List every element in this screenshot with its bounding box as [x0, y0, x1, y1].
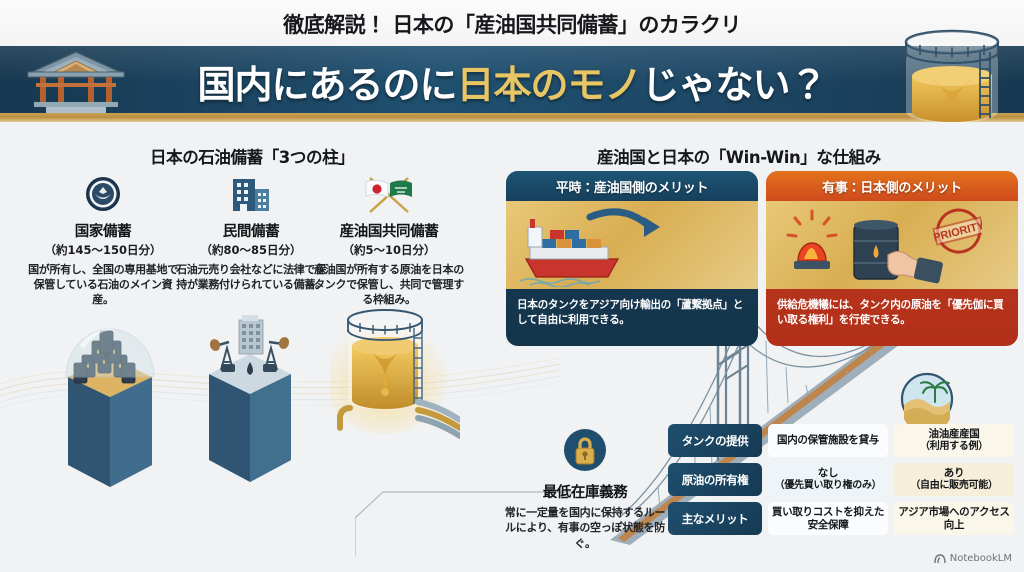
pillar-days: （約145〜150日分）	[28, 242, 178, 258]
gold-divider-rule	[0, 113, 1024, 122]
pillar-private-reserve: 民間備蓄 （約80〜85日分） 石油元売り会社などに法律で保持が業務付けられてい…	[176, 172, 326, 292]
panel-art: PRIORITY	[766, 201, 1018, 289]
cell-main: 油油産産国	[929, 428, 980, 441]
pillar-name: 民間備蓄	[176, 220, 326, 241]
panel-head: 有事：日本側のメリット	[766, 171, 1018, 201]
cell-oil-country: 油油産産国 （利用する例）	[894, 424, 1014, 457]
government-seal-icon	[28, 172, 178, 216]
panel-body: 供給危機犧には、タンク内の原油を「優先伽に買い取る権利」を行使できる。	[766, 289, 1018, 329]
comparison-table: タンクの提供 国内の保管施設を貸与 油油産産国 （利用する例） 原油の所有権 な…	[668, 424, 1014, 541]
cell-main: なし	[818, 467, 838, 480]
oil-tank-pipes-illustration	[330, 300, 460, 460]
pillar-national-reserve: 国家備蓄 （約145〜150日分） 国が所有し、全国の専用基地で保管している石油…	[28, 172, 178, 308]
cell-main: あり	[944, 467, 964, 480]
cell-main: 国内の保管施設を貸与	[777, 434, 879, 447]
headline-part2: じゃない？	[642, 63, 827, 107]
lock-desc: 常に一定量を国内に保持するルールにより、有事の空っぽ状態を防ぐ。	[500, 505, 670, 551]
row-label: タンクの提供	[668, 424, 762, 457]
crossed-flags-icon	[314, 172, 464, 216]
page-headline: 国内にあるのに日本のモノじゃない？	[0, 54, 1024, 109]
panel-peacetime-benefit: 平時：産油国側のメリット 日本のタンクをアジア向け輸出	[506, 171, 758, 346]
row-label: 原油の所有権	[668, 463, 762, 496]
panel-head: 平時：産油国側のメリット	[506, 171, 758, 201]
pillar-name: 国家備蓄	[28, 220, 178, 241]
cell-main: 買い取りコストを抑えた安全保障	[768, 506, 888, 531]
infographic-canvas: 徹底解説！ 日本の「産油国共同備蓄」のカラクリ 国内にあるのに日本のモノじゃない…	[0, 0, 1024, 572]
pillar-joint-reserve: 産油国共同備蓄 （約5〜10日分） 産油国が所有する原油を日本のタンクで保管し、…	[314, 172, 464, 308]
oil-derrick-buildings-illustration	[195, 312, 305, 484]
right-section-title: 産油国と日本の「Win-Win」な仕組み	[597, 144, 881, 168]
panel-art	[506, 201, 758, 289]
header-kicker: 徹底解説！ 日本の「産油国共同備蓄」のカラクリ	[0, 9, 1024, 39]
barrels-under-dome-illustration	[50, 305, 170, 495]
table-row: タンクの提供 国内の保管施設を貸与 油油産産国 （利用する例）	[668, 424, 1014, 457]
oil-storage-tank-icon	[892, 26, 1012, 124]
headline-part1: 国内にあるのに	[197, 63, 456, 107]
panel-emergency-benefit: 有事：日本側のメリット PRI	[766, 171, 1018, 346]
cell-sub: （利用する例）	[920, 441, 988, 453]
cell-japan: 国内の保管施設を貸与	[768, 424, 888, 457]
office-buildings-icon	[176, 172, 326, 216]
cargo-ship-export-icon	[512, 203, 682, 287]
cell-oil-country: アジア市場へのアクセス向上	[894, 502, 1014, 535]
cell-main: アジア市場へのアクセス向上	[894, 506, 1014, 531]
cell-sub: （優先買い取り権のみ）	[775, 480, 882, 492]
cell-sub: （自由に販売可能）	[910, 480, 997, 492]
desert-palm-icon	[900, 372, 954, 426]
pillar-days: （約80〜85日分）	[176, 242, 326, 258]
row-label: 主なメリット	[668, 502, 762, 535]
lock-title: 最低在庫義務	[500, 481, 670, 502]
notebooklm-logo-icon	[934, 554, 946, 564]
panel-body: 日本のタンクをアジア向け輸出の「蘆繋拠点」として自由に利用できる。	[506, 289, 758, 329]
table-row: 原油の所有権 なし （優先買い取り権のみ） あり （自由に販売可能）	[668, 463, 1014, 496]
lock-icon	[563, 428, 607, 472]
watermark-label: NotebookLM	[950, 553, 1012, 564]
cell-japan: 買い取りコストを抑えた安全保障	[768, 502, 888, 535]
pillar-desc: 国が所有し、全国の専用基地で保管している石油のメイン資産。	[28, 262, 178, 308]
headline-highlight: 日本のモノ	[456, 63, 641, 107]
pillar-desc: 石油元売り会社などに法律で保持が業務付けられている備蓄。	[176, 262, 326, 292]
pillar-name: 産油国共同備蓄	[314, 220, 464, 241]
pillar-days: （約5〜10日分）	[314, 242, 464, 258]
cell-japan: なし （優先買い取り権のみ）	[768, 463, 888, 496]
alarm-barrel-priority-icon: PRIORITY	[782, 203, 982, 289]
left-section-title: 日本の石油備蓄「3つの柱」	[150, 144, 354, 168]
table-row: 主なメリット 買い取りコストを抑えた安全保障 アジア市場へのアクセス向上	[668, 502, 1014, 535]
minimum-stock-obligation-block: 最低在庫義務 常に一定量を国内に保持するルールにより、有事の空っぽ状態を防ぐ。	[500, 428, 670, 551]
cell-oil-country: あり （自由に販売可能）	[894, 463, 1014, 496]
notebooklm-watermark: NotebookLM	[934, 553, 1012, 564]
